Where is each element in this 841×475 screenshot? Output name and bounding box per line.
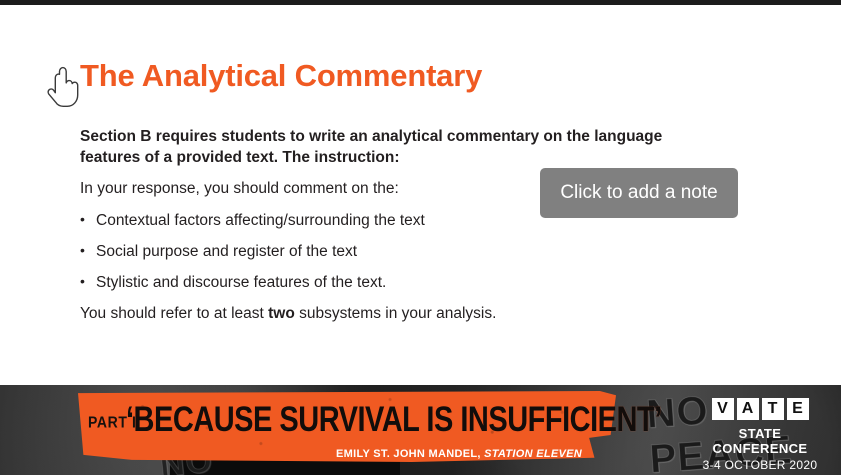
vate-letter-a: A (737, 398, 759, 420)
lead-paragraph: Section B requires students to write an … (80, 126, 705, 168)
conference-dates: 3-4 OCTOBER 2020 (690, 458, 830, 472)
closing-paragraph: You should refer to at least two subsyst… (80, 303, 720, 324)
top-edge-strip (0, 0, 841, 5)
list-item: Stylistic and discourse features of the … (80, 272, 720, 293)
vate-letter-t: T (762, 398, 784, 420)
bullet-list: Contextual factors affecting/surrounding… (80, 210, 720, 293)
closing-emphasis: two (268, 305, 295, 322)
attribution-work: STATION ELEVEN (484, 448, 582, 460)
presentation-slide: The Analytical Commentary Section B requ… (0, 0, 841, 475)
conference-name: STATE CONFERENCE (690, 426, 830, 456)
add-note-button[interactable]: Click to add a note (540, 168, 738, 218)
vate-letter-v: V (712, 398, 734, 420)
quote-attribution: EMILY ST. JOHN MANDEL, STATION ELEVEN (336, 448, 582, 460)
attribution-author: EMILY ST. JOHN MANDEL, (336, 448, 481, 460)
vate-letter-boxes: V A T E (690, 398, 830, 420)
pointing-hand-cursor-icon (46, 66, 80, 108)
slide-body: Section B requires students to write an … (80, 126, 720, 324)
banner-quote: ‘BECAUSE SURVIVAL IS INSUFFICIENT’ (126, 400, 662, 440)
page-title: The Analytical Commentary (80, 58, 482, 94)
closing-text-after: subsystems in your analysis. (295, 305, 497, 322)
vate-letter-e: E (787, 398, 809, 420)
closing-text-before: You should refer to at least (80, 305, 268, 322)
list-item: Social purpose and register of the text (80, 241, 720, 262)
vate-logo: V A T E STATE CONFERENCE 3-4 OCTOBER 202… (690, 398, 830, 472)
